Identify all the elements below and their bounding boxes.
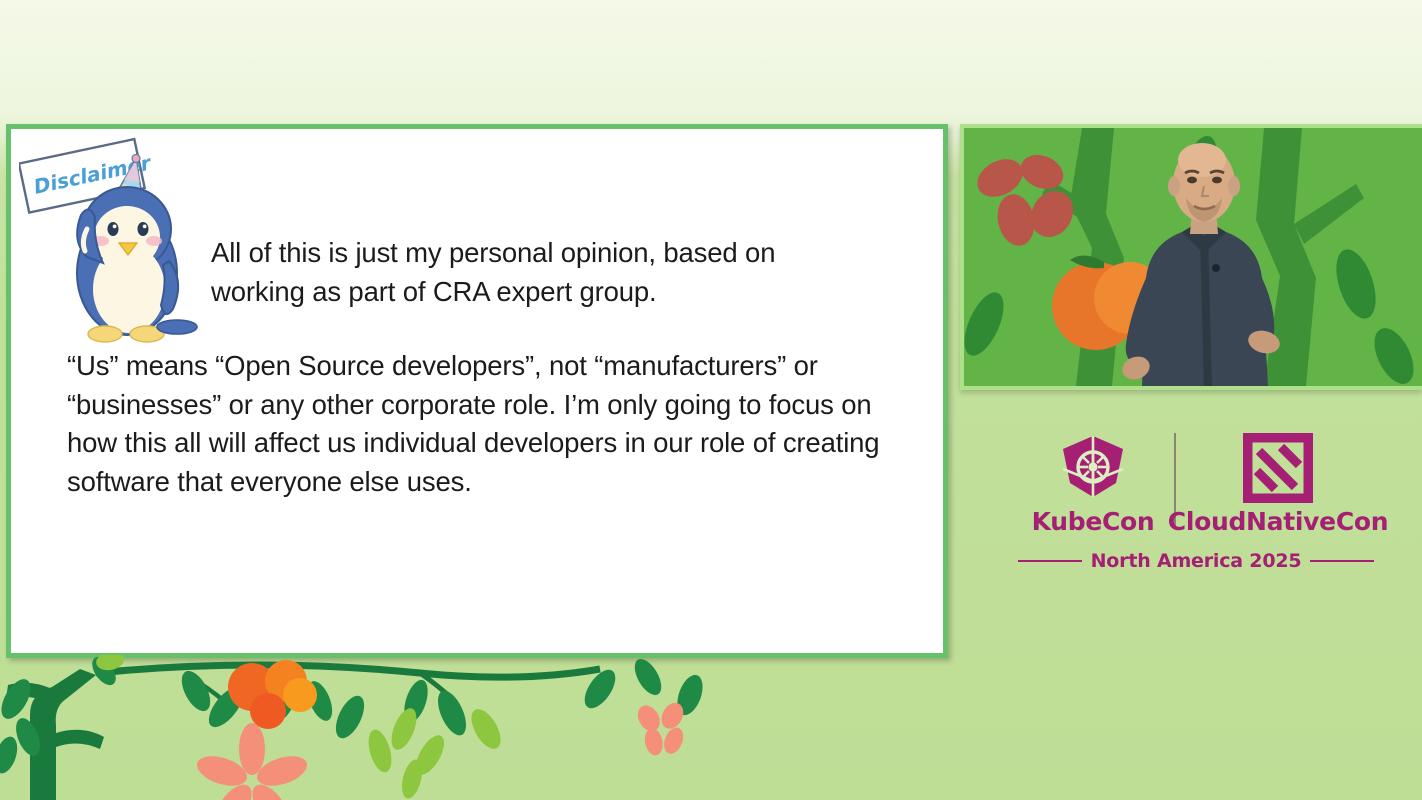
cloudnativecon-block: CloudNativeCon xyxy=(1182,433,1374,536)
speaker-video-frame xyxy=(964,128,1422,386)
kubernetes-helm-icon xyxy=(1055,433,1131,503)
slide-paragraph-1: All of this is just my personal opinion,… xyxy=(211,234,871,311)
logo-subtitle: North America 2025 xyxy=(1018,550,1374,572)
kubecon-wordmark: KubeCon xyxy=(1032,507,1155,536)
rule-right xyxy=(1310,560,1374,562)
slide-panel: Disclaimer xyxy=(6,124,948,658)
foliage-decoration xyxy=(0,655,760,800)
kubecon-cloudnativecon-logo: KubeCon CloudNativeCon xyxy=(1018,428,1374,580)
slide-content: Disclaimer xyxy=(11,129,943,653)
slide-paragraph-2: “Us” means “Open Source developers”, not… xyxy=(67,347,927,501)
presentation-stage: Disclaimer xyxy=(0,0,1422,800)
logo-row: KubeCon CloudNativeCon xyxy=(1018,428,1374,540)
penguin-mascot: Disclaimer xyxy=(19,137,219,352)
rule-left xyxy=(1018,560,1082,562)
speaker-video-feed[interactable] xyxy=(960,124,1422,390)
cloudnativecon-wordmark: CloudNativeCon xyxy=(1168,507,1388,536)
kubecon-block: KubeCon xyxy=(1018,433,1168,536)
cncf-square-icon xyxy=(1243,433,1313,503)
location-year-label: North America 2025 xyxy=(1091,550,1302,572)
